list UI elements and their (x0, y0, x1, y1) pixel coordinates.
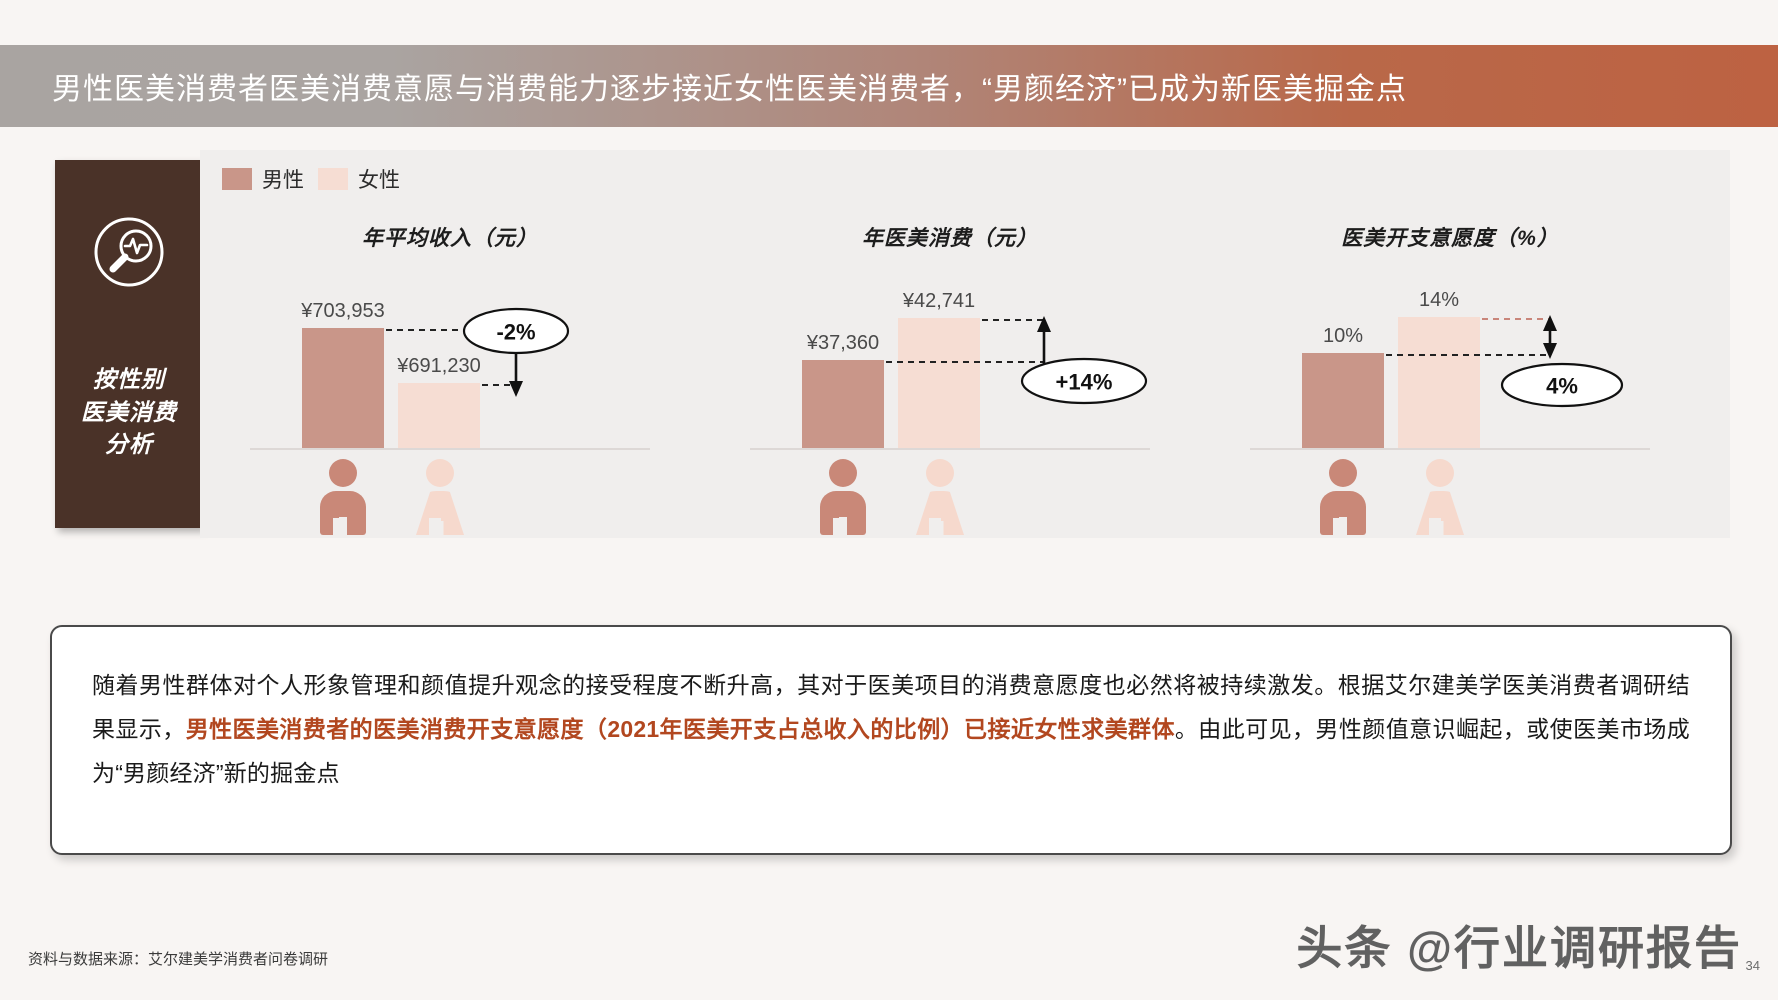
chart-title-willingness: 医美开支意愿度（%） (1220, 222, 1680, 252)
chart-title-income: 年平均收入（元） (220, 222, 680, 252)
arrow-up-icon (1543, 315, 1557, 331)
chart-groups: 年平均收入（元） ¥703,953 ¥691,230 -2% (200, 150, 1730, 538)
plot-income: ¥703,953 ¥691,230 -2% (220, 285, 680, 450)
section-badge: 按性别 医美消费 分析 (55, 160, 203, 528)
slide-root: 男性医美消费者医美消费意愿与消费能力逐步接近女性医美消费者，“男颜经济”已成为新… (0, 0, 1778, 1000)
insight-textbox: 随着男性群体对个人形象管理和颜值提升观念的接受程度不断升高，其对于医美项目的消费… (50, 625, 1732, 855)
insight-text-highlight: 男性医美消费者的医美消费开支意愿度（2021年医美开支占总收入的比例）已接近女性… (186, 716, 1175, 742)
arrow-down-icon (509, 381, 523, 397)
person-male-icon (820, 459, 866, 535)
callout-willingness: 4% (1220, 285, 1680, 450)
callout-income: -2% (220, 285, 680, 450)
chart-group-spend: 年医美消费（元） ¥37,360 ¥42,741 (720, 150, 1180, 538)
slide-header: 男性医美消费者医美消费意愿与消费能力逐步接近女性医美消费者，“男颜经济”已成为新… (0, 45, 1778, 127)
chart-group-income: 年平均收入（元） ¥703,953 ¥691,230 -2% (220, 150, 680, 538)
badge-line-2: 医美消费 (81, 396, 177, 429)
page-title: 男性医美消费者医美消费意愿与消费能力逐步接近女性医美消费者，“男颜经济”已成为新… (52, 64, 1407, 108)
watermark: 头条 @行业调研报告 (1296, 912, 1742, 978)
callout-label-willingness: 4% (1546, 374, 1578, 399)
source-note: 资料与数据来源：艾尔建美学消费者问卷调研 (28, 948, 328, 969)
badge-line-1: 按性别 (81, 363, 177, 396)
callout-label-income: -2% (496, 320, 535, 345)
plot-willingness: 10% 14% 4% (1220, 285, 1680, 450)
people-icons-spend (720, 455, 1180, 535)
people-icons-willingness (1220, 455, 1680, 535)
page-number: 34 (1746, 958, 1760, 973)
person-female-icon (416, 459, 464, 535)
person-female-icon (1416, 459, 1464, 535)
arrow-up-icon (1037, 316, 1051, 332)
badge-line-3: 分析 (81, 428, 177, 461)
arrow-down-icon (1543, 343, 1557, 359)
person-male-icon (1320, 459, 1366, 535)
chart-title-spend: 年医美消费（元） (720, 222, 1180, 252)
magnifier-pulse-icon (87, 212, 171, 301)
callout-label-spend: +14% (1056, 370, 1113, 395)
plot-spend: ¥37,360 ¥42,741 +14% (720, 285, 1180, 450)
section-badge-text: 按性别 医美消费 分析 (81, 363, 177, 461)
chart-group-willingness: 医美开支意愿度（%） 10% 14% (1220, 150, 1680, 538)
people-icons-income (220, 455, 680, 535)
chart-panel: 男性 女性 年平均收入（元） ¥703,953 ¥691,230 (200, 150, 1730, 538)
person-female-icon (916, 459, 964, 535)
person-male-icon (320, 459, 366, 535)
insight-paragraph: 随着男性群体对个人形象管理和颜值提升观念的接受程度不断升高，其对于医美项目的消费… (92, 663, 1690, 795)
callout-spend: +14% (720, 285, 1180, 450)
